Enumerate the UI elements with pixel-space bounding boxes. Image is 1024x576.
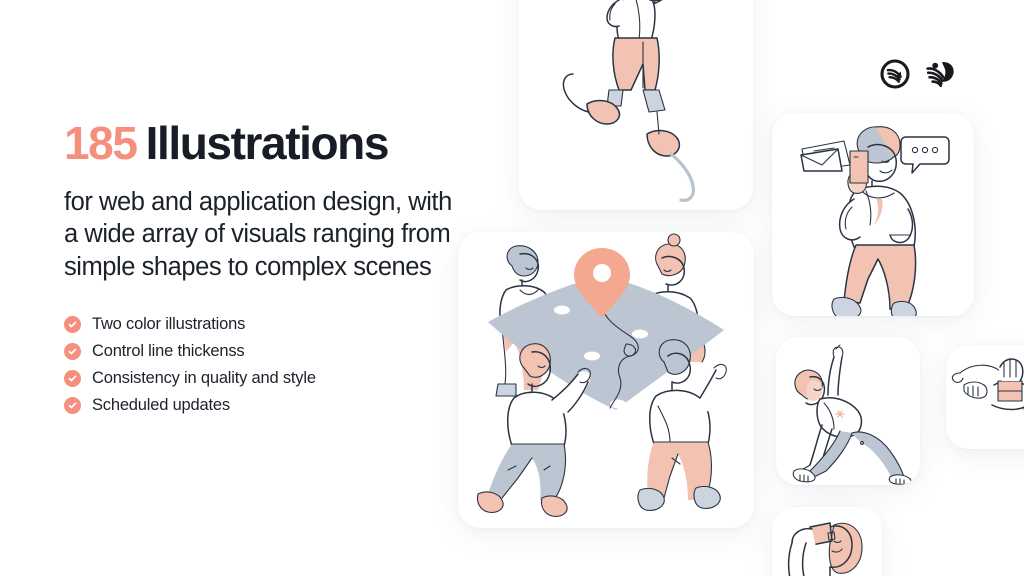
list-item: Two color illustrations xyxy=(64,316,464,333)
list-item: Control line thickenss xyxy=(64,343,464,360)
feature-label: Control line thickenss xyxy=(92,343,244,360)
runner-torch-illustration xyxy=(519,0,753,210)
list-item: Scheduled updates xyxy=(64,397,464,414)
check-circle-icon xyxy=(64,397,81,414)
page-title: 185Illustrations xyxy=(64,118,464,170)
feature-list: Two color illustrations Control line thi… xyxy=(64,316,464,414)
team-carrying-map-illustration xyxy=(458,232,754,528)
drinking-water-illustration xyxy=(772,507,882,576)
illustration-card-team-map[interactable] xyxy=(458,232,754,528)
list-item: Consistency in quality and style xyxy=(64,370,464,387)
check-circle-icon xyxy=(64,316,81,333)
headline-text: Illustrations xyxy=(146,117,389,169)
circle-swoosh-logo-icon[interactable] xyxy=(880,59,910,89)
blood-pressure-nurse-illustration xyxy=(946,345,1024,449)
check-circle-icon xyxy=(64,343,81,360)
illustration-card-runner[interactable] xyxy=(519,0,753,210)
illustration-count: 185 xyxy=(64,117,137,169)
illustration-card-medical[interactable] xyxy=(946,345,1024,449)
feature-label: Consistency in quality and style xyxy=(92,370,316,387)
illustration-card-yoga[interactable] xyxy=(776,337,920,485)
walking-texting-illustration xyxy=(772,113,974,316)
wave-hand-logo-icon[interactable] xyxy=(924,59,956,89)
brand-logos xyxy=(880,59,956,89)
hero-subheading: for web and application design, with a w… xyxy=(64,186,464,285)
yoga-triangle-pose-illustration xyxy=(776,337,920,485)
check-circle-icon xyxy=(64,370,81,387)
poster-canvas: 185Illustrations for web and application… xyxy=(0,0,1024,576)
illustration-card-drink[interactable] xyxy=(772,507,882,576)
feature-label: Scheduled updates xyxy=(92,397,230,414)
hero-copy-block: 185Illustrations for web and application… xyxy=(64,118,464,424)
feature-label: Two color illustrations xyxy=(92,316,245,333)
illustration-card-message[interactable] xyxy=(772,113,974,316)
